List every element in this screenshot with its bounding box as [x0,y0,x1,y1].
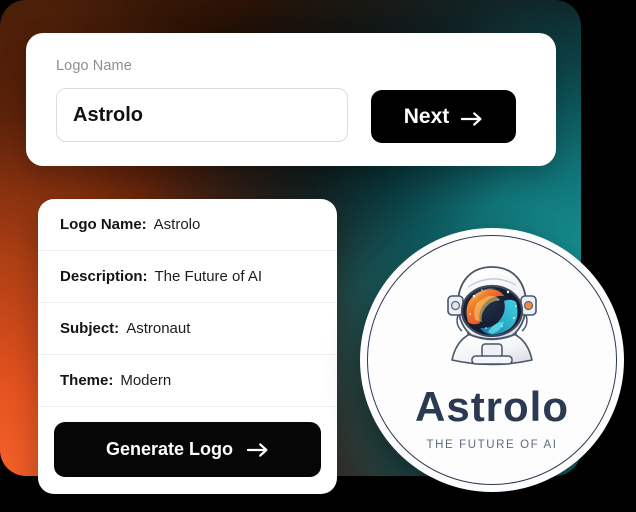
next-button-label: Next [404,105,450,129]
detail-row-logo-name: Logo Name: Astrolo [38,199,337,251]
detail-key: Theme: [60,372,113,389]
logo-name-form-card: Logo Name Next [26,33,556,166]
generate-logo-button[interactable]: Generate Logo [54,422,321,477]
logo-name-input[interactable] [56,88,348,142]
astronaut-helmet-icon [428,256,556,384]
detail-row-subject: Subject: Astronaut [38,303,337,355]
detail-key: Logo Name: [60,216,147,233]
brand-tagline: THE FUTURE OF AI [426,439,557,451]
detail-key: Description: [60,268,148,285]
brand-wordmark: Astrolo [415,386,569,428]
next-button[interactable]: Next [371,90,516,143]
logo-details-card: Logo Name: Astrolo Description: The Futu… [38,199,337,494]
arrow-right-icon [461,109,483,125]
generate-logo-label: Generate Logo [106,439,233,460]
detail-row-description: Description: The Future of AI [38,251,337,303]
detail-value: Modern [120,372,171,389]
logo-preview-badge[interactable]: Astrolo THE FUTURE OF AI [360,228,624,492]
detail-row-theme: Theme: Modern [38,355,337,407]
detail-value: Astronaut [126,320,190,337]
detail-value: The Future of AI [155,268,263,285]
detail-key: Subject: [60,320,119,337]
detail-value: Astrolo [154,216,201,233]
logo-name-label: Logo Name [56,58,132,74]
arrow-right-icon [247,442,269,458]
